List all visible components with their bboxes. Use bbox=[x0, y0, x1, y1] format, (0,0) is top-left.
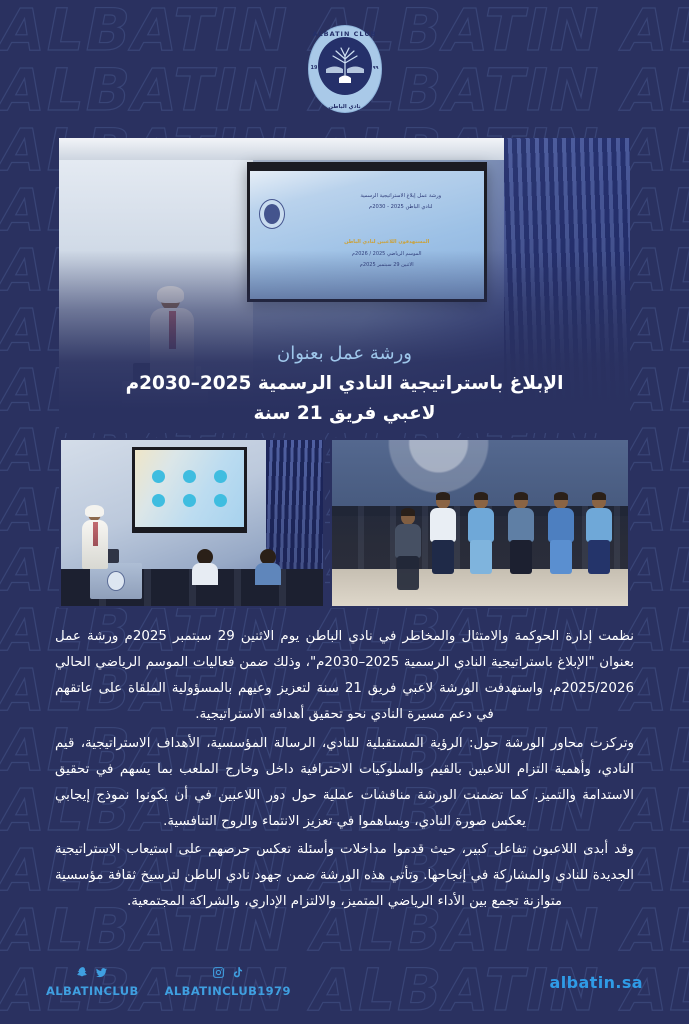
slide-icon-1 bbox=[214, 470, 227, 483]
crest-inner-oval bbox=[317, 36, 373, 96]
photo-presenter-screen bbox=[59, 438, 325, 608]
article-paragraph: نظمت إدارة الحوكمة والامتثال والمخاطر في… bbox=[55, 624, 634, 729]
poster-page: ALBATIN CLUB 1979 ١٣٩٩ نادي الباطن bbox=[0, 0, 689, 1024]
player-figure bbox=[546, 494, 576, 576]
slide-icon-3 bbox=[152, 470, 165, 483]
instagram-icon[interactable] bbox=[212, 966, 225, 979]
player-figure bbox=[466, 494, 496, 576]
social-account-albatinclub1979[interactable]: ALBATINCLUB1979 bbox=[165, 966, 291, 998]
slide-icon-5 bbox=[183, 494, 196, 507]
photo-players-seated bbox=[330, 438, 630, 608]
poster-header: ALBATIN CLUB 1979 ١٣٩٩ نادي الباطن bbox=[0, 0, 689, 138]
slide-icon-4 bbox=[214, 494, 227, 507]
tiktok-icon[interactable] bbox=[231, 966, 244, 979]
article-paragraph: وتركزت محاور الورشة حول: الرؤية المستقبل… bbox=[55, 731, 634, 836]
slide-icon-grid bbox=[135, 450, 244, 527]
social-links-group: ALBATINCLUB ALBATINCLUB1979 bbox=[46, 966, 291, 998]
audience-figure bbox=[192, 549, 218, 583]
hero-caption: ورشة عمل بعنوان الإبلاغ باستراتيجية النا… bbox=[59, 340, 630, 429]
snapchat-icon[interactable] bbox=[76, 966, 89, 979]
player-figure bbox=[584, 494, 614, 576]
caption-line-1: الإبلاغ باستراتيجية النادي الرسمية 2025–… bbox=[59, 369, 630, 399]
twitter-icon[interactable] bbox=[95, 966, 108, 979]
caption-kicker: ورشة عمل بعنوان bbox=[59, 340, 630, 369]
player-figure bbox=[393, 510, 423, 576]
social-account-albatinclub[interactable]: ALBATINCLUB bbox=[46, 966, 139, 998]
crest-arabic-text: نادي الباطن bbox=[308, 104, 382, 110]
hero-photo-block: ورشة عمل إبلاغ الاستراتيجية الرسمية لناد… bbox=[59, 138, 630, 433]
audience-figure bbox=[255, 549, 281, 583]
slide-icon-6 bbox=[152, 494, 165, 507]
social-handle[interactable]: ALBATINCLUB1979 bbox=[165, 984, 291, 998]
slide-icon-2 bbox=[183, 470, 196, 483]
article-body: نظمت إدارة الحوكمة والامتثال والمخاطر في… bbox=[55, 624, 634, 940]
social-handle[interactable]: ALBATINCLUB bbox=[46, 984, 139, 998]
wall-display-screen bbox=[132, 447, 247, 533]
player-figure bbox=[428, 494, 458, 576]
albatin-club-crest: ALBATIN CLUB 1979 ١٣٩٩ نادي الباطن bbox=[308, 25, 382, 113]
website-link[interactable]: albatin.sa bbox=[550, 973, 643, 992]
player-figure bbox=[506, 494, 536, 576]
tree-icon bbox=[322, 45, 368, 85]
photo-gallery-row bbox=[59, 438, 630, 608]
caption-line-2: لاعبي فريق 21 سنة bbox=[59, 399, 630, 429]
article-paragraph: وقد أبدى اللاعبون تفاعل كبير، حيث قدموا … bbox=[55, 837, 634, 915]
presenter-figure bbox=[82, 507, 108, 569]
poster-footer: ALBATINCLUB ALBATINCLUB1979 albatin.sa bbox=[0, 940, 689, 1024]
